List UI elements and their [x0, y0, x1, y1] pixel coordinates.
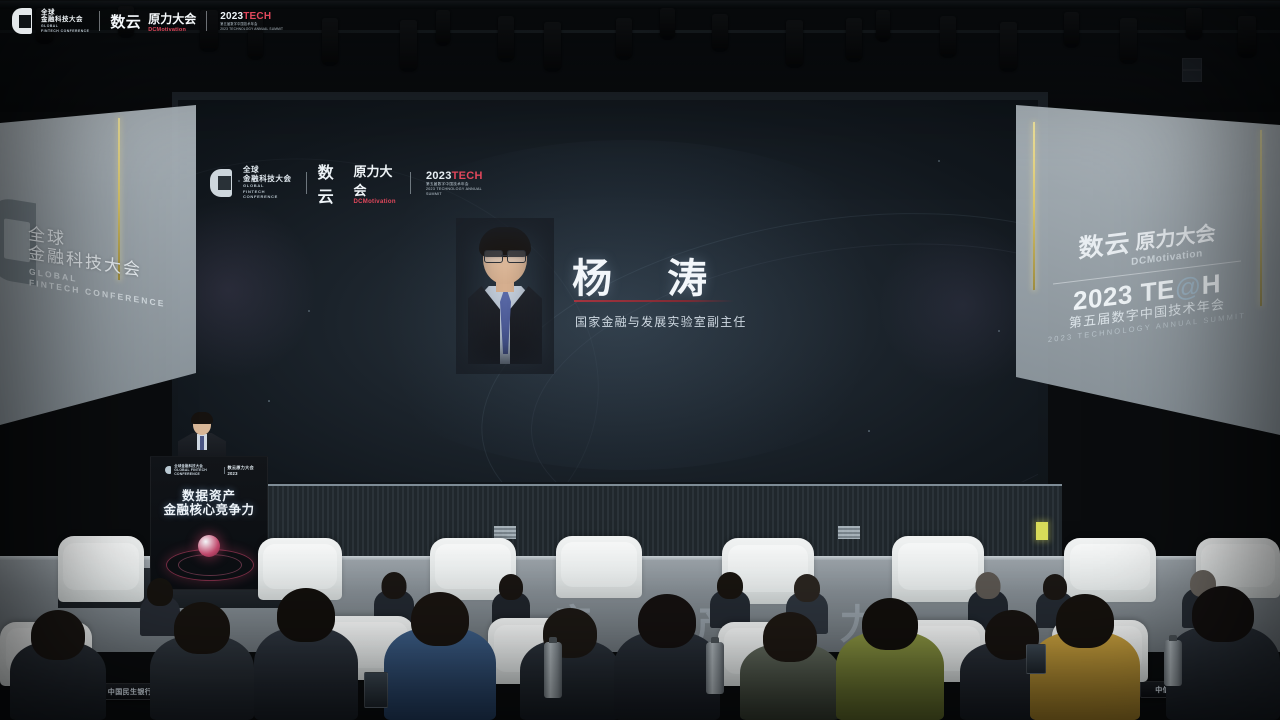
stage-light [498, 16, 514, 60]
podium-title-line1: 数据资产 [151, 489, 267, 503]
stage-light [1120, 18, 1137, 62]
stage-light [1064, 12, 1079, 46]
led-badge-year: 2023 [426, 170, 452, 182]
stage-light [1238, 16, 1256, 56]
smartphone [364, 672, 388, 708]
podium-global-text: 全球金融科技大会 GLOBAL FINTECH CONFERENCE [174, 464, 220, 476]
led-star [938, 160, 940, 162]
led-badge-tech: TECH [452, 170, 483, 182]
audience-chair [556, 536, 642, 598]
speaker-title: 国家金融与发展实验室副主任 [575, 313, 747, 330]
stage-light [436, 10, 450, 44]
stage-light [786, 20, 803, 66]
led-nebula [878, 220, 1038, 390]
watermark-yuanli: 原力大会 [148, 10, 196, 27]
global-fintech-mark-icon [165, 466, 171, 474]
podium-title-line2: 金融核心竞争力 [151, 503, 267, 517]
stage-light [400, 20, 417, 70]
name-placard-label: 中国民生银行 [108, 687, 152, 697]
watermark-divider [99, 11, 100, 31]
global-fintech-mark-icon [210, 169, 236, 197]
audience-member-front [740, 612, 840, 720]
water-bottle [544, 642, 562, 698]
smartphone [1026, 644, 1046, 674]
watermark-yuanli-block: 原力大会 DCMotivation [148, 10, 196, 33]
stage-light [940, 16, 956, 56]
speaker-name: 杨 涛 [572, 246, 729, 304]
stage-light [660, 8, 675, 38]
audience-member-front [836, 598, 944, 720]
audience-member-front [150, 602, 254, 720]
right-wall-light-strip [1033, 122, 1035, 290]
logo-divider [410, 172, 411, 194]
stage-light [616, 18, 632, 58]
speaker-portrait [466, 228, 544, 364]
stage-light [876, 10, 890, 40]
audience-area: 中国民生银行 中国进出口银行 中信银行 [0, 520, 1280, 720]
right-wall-at-icon: @ [1175, 270, 1202, 303]
audience-member-front [10, 610, 106, 720]
watermark-badge-year: 2023 [220, 11, 243, 22]
led-shuyun-logo: 数云 [318, 159, 347, 207]
watermark-shuyun: 数云 [110, 11, 141, 32]
led-star [308, 310, 310, 312]
stage-light [1186, 8, 1202, 38]
stage-light [544, 22, 561, 70]
speaker-name-rule [574, 300, 734, 302]
right-wall-tech-h: H [1202, 268, 1221, 300]
ceiling-speaker [1182, 58, 1202, 70]
led-dcmotivation-text: DCMotivation [354, 199, 400, 205]
audience-chair [58, 536, 144, 602]
broadcast-watermark: 全球 金融科技大会 GLOBAL FINTECH CONFERENCE 数云 原… [10, 6, 283, 36]
podium-global-en: GLOBAL FINTECH CONFERENCE [174, 468, 220, 476]
led-global-cn2: 金融科技大会 [243, 175, 295, 184]
stage-light [1000, 22, 1017, 70]
watermark-global-en2: FINTECH CONFERENCE [41, 29, 89, 34]
led-star [268, 400, 270, 402]
stage-light [846, 18, 862, 60]
led-2023-badge: 2023TECH 第五届数字中国技术年会 2023 TECHNOLOGY ANN… [422, 170, 490, 197]
led-star [998, 330, 1000, 332]
podium-title: 数据资产 金融核心竞争力 [151, 489, 267, 517]
podium-shuyun-text: 数云原力大会 2023 [228, 465, 258, 476]
led-star [868, 430, 870, 432]
water-bottle [706, 642, 724, 694]
watermark-global-text: 全球 金融科技大会 GLOBAL FINTECH CONFERENCE [41, 9, 89, 33]
right-wall-shuyun: 数云 [1078, 230, 1130, 262]
watermark-badge-tech: TECH [243, 11, 271, 22]
led-badge-year-row: 2023TECH [426, 170, 490, 182]
water-bottle [1164, 640, 1182, 686]
podium-logo-divider [224, 467, 225, 474]
audience-member-front [1030, 594, 1140, 720]
watermark-badge-year-row: 2023TECH [220, 11, 283, 22]
led-global-en2: FINTECH CONFERENCE [243, 189, 295, 200]
led-yuanli-block: 原力大会 DCMotivation [354, 161, 400, 205]
watermark-global-cn2: 金融科技大会 [41, 16, 89, 24]
led-badge-en: 2023 TECHNOLOGY ANNUAL SUMMIT [426, 187, 490, 197]
watermark-dcmotivation: DCMotivation [148, 27, 196, 33]
watermark-2023-badge: 2023TECH 第五届数字中国技术年会 2023 TECHNOLOGY ANN… [217, 11, 283, 31]
audience-member-front [614, 594, 720, 720]
audience-member-front [520, 608, 620, 720]
audience-member-front [384, 592, 496, 720]
conference-stage-scene: 全球 金融科技大会 GLOBAL FINTECH CONFERENCE 数云 原… [0, 0, 1280, 720]
podium-speaker [176, 414, 228, 460]
podium-logo-bar: 全球金融科技大会 GLOBAL FINTECH CONFERENCE 数云原力大… [165, 465, 257, 475]
watermark-badge-en: 2023 TECHNOLOGY ANNUAL SUMMIT [220, 27, 283, 31]
audience-chair [1064, 538, 1156, 602]
audience-member-front [1166, 586, 1280, 720]
stage-light [322, 18, 338, 64]
watermark-divider [206, 11, 207, 31]
ceiling-speaker [1182, 70, 1202, 82]
led-logo-bar: 全球 金融科技大会 GLOBAL FINTECH CONFERENCE 数云 原… [210, 166, 490, 200]
logo-divider [306, 172, 307, 194]
eyeglasses-icon [484, 250, 526, 261]
led-global-fintech-text: 全球 金融科技大会 GLOBAL FINTECH CONFERENCE [243, 166, 295, 200]
led-yuanli-text: 原力大会 [354, 161, 400, 199]
right-wall-light-strip [1260, 130, 1262, 306]
global-fintech-mark-icon [10, 8, 34, 34]
stage-light [712, 14, 728, 50]
audience-member-front [254, 588, 358, 720]
